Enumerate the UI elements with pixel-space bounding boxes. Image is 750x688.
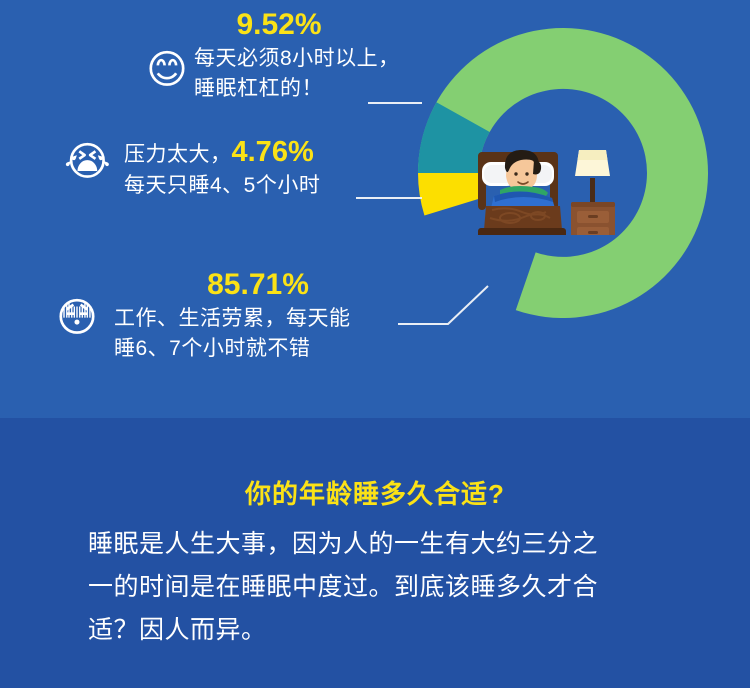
smiling-face-with-smiling-eyes-icon: 😊 xyxy=(144,50,190,96)
bottom-body-line-2: 一的时间是在睡眠中度过。到底该睡多久才合 xyxy=(88,566,668,609)
callout-1-percent: 9.52% xyxy=(142,8,422,42)
callout-2-percent: 4.76% xyxy=(232,136,314,168)
callout-sleep-4-5-hours: 😭 压力太大，4.76% 每天只睡4、5个小时 xyxy=(62,136,392,201)
callout-3-line-1: 工作、生活劳累，每天能 xyxy=(114,304,452,334)
callout-sleep-8-hours: 😊 9.52% 每天必须8小时以上， 睡眠杠杠的！ xyxy=(142,8,422,104)
callout-1-line-1: 每天必须8小时以上， xyxy=(194,44,422,74)
lamp-icon xyxy=(575,150,610,202)
infographic-page: 😊 9.52% 每天必须8小时以上， 睡眠杠杠的！ 😭 压力太大，4.76% 每… xyxy=(0,0,750,688)
bottom-section-body: 睡眠是人生大事，因为人的一生有大约三分之 一的时间是在睡眠中度过。到底该睡多久才… xyxy=(88,523,668,652)
bed-svg xyxy=(474,110,654,235)
bottom-section-heading: 你的年龄睡多久合适? xyxy=(0,474,750,511)
nightstand-icon xyxy=(571,202,615,235)
callout-1-line-2: 睡眠杠杠的！ xyxy=(194,74,422,104)
flushed-face-icon: 😳 xyxy=(54,298,100,344)
loudly-crying-face-icon: 😭 xyxy=(64,142,110,188)
callout-3-line-2: 睡6、7个小时就不错 xyxy=(114,334,452,364)
bed-frame xyxy=(478,206,566,235)
callout-sleep-6-7-hours: 😳 85.71% 工作、生活劳累，每天能 睡6、7个小时就不错 xyxy=(52,268,452,364)
bottom-body-line-1: 睡眠是人生大事，因为人的一生有大约三分之 xyxy=(88,523,668,566)
callout-1-lines: 9.52% 每天必须8小时以上， 睡眠杠杠的！ xyxy=(194,8,422,104)
callout-2-line-1: 压力太大，4.76% xyxy=(124,136,392,171)
callout-2-prefix: 压力太大， xyxy=(124,143,232,166)
bottom-body-line-3: 适？因人而异。 xyxy=(88,609,668,652)
callout-2-line-2: 每天只睡4、5个小时 xyxy=(124,171,392,201)
sleeping-man-illustration xyxy=(474,110,654,235)
callout-2-lines: 压力太大，4.76% 每天只睡4、5个小时 xyxy=(124,136,392,201)
callout-3-lines: 85.71% 工作、生活劳累，每天能 睡6、7个小时就不错 xyxy=(114,268,452,364)
callout-3-percent: 85.71% xyxy=(104,268,452,302)
